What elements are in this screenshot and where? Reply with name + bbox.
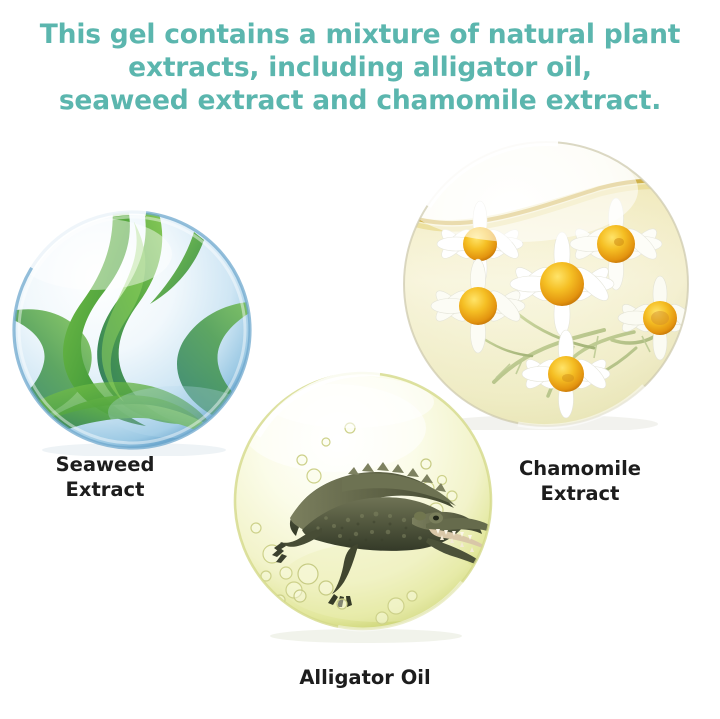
ingredient-label-seaweed: Seaweed Extract — [0, 452, 210, 502]
seaweed-sphere-icon — [8, 206, 258, 456]
ingredient-sphere-seaweed — [8, 206, 258, 456]
headline-line-1: This gel contains a mixture of natural p… — [0, 18, 720, 51]
infographic-canvas: This gel contains a mixture of natural p… — [0, 0, 720, 719]
headline-line-3: seaweed extract and chamomile extract. — [0, 84, 720, 117]
ingredient-sphere-alligator — [230, 368, 500, 643]
headline-line-2: extracts, including alligator oil, — [0, 51, 720, 84]
ingredient-label-alligator: Alligator Oil — [215, 665, 515, 690]
alligator-sphere-icon — [230, 368, 500, 643]
page-title: This gel contains a mixture of natural p… — [0, 18, 720, 117]
